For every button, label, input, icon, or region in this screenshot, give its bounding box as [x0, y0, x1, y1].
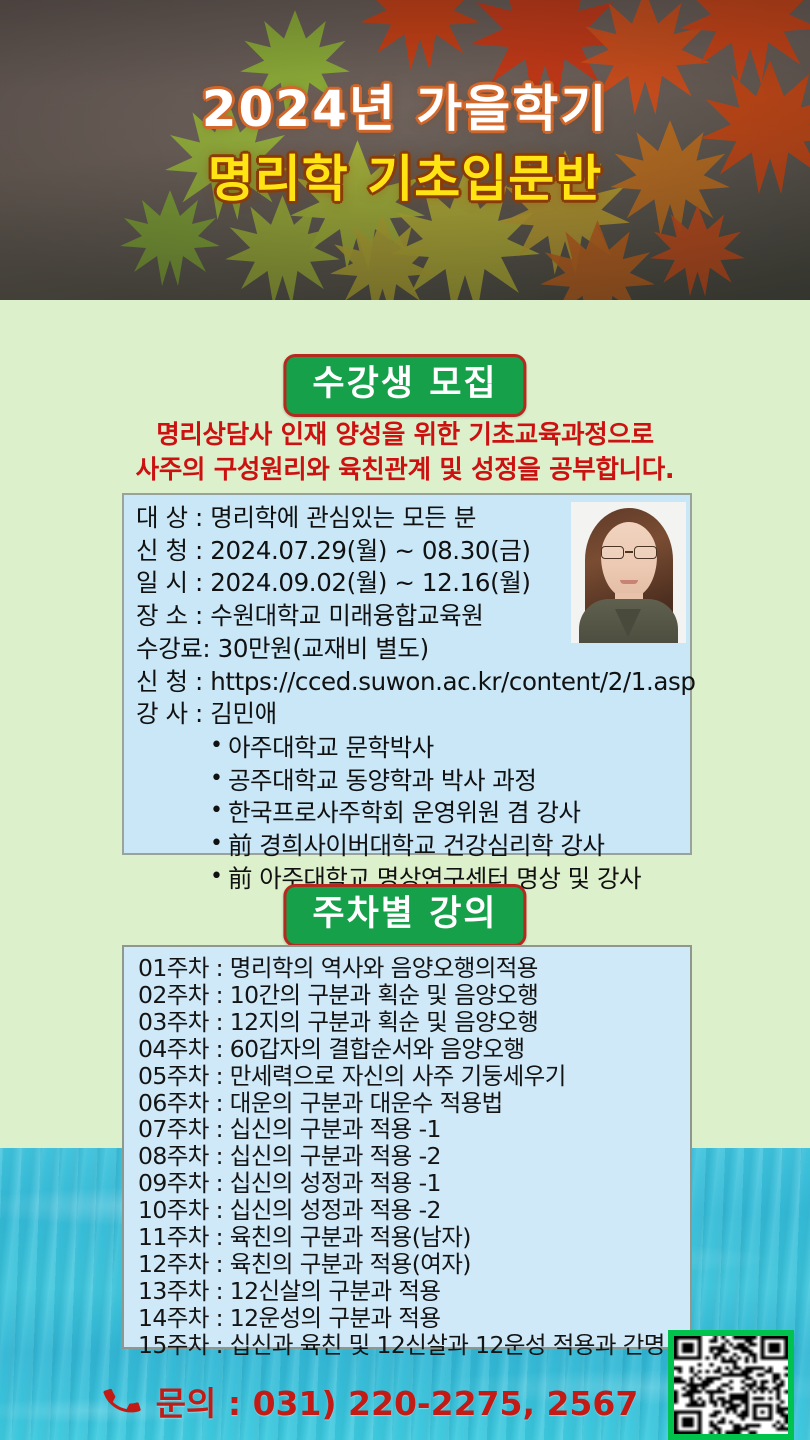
- section-badge-weekly: 주차별 강의: [283, 884, 526, 947]
- weekly-item: 15주차 : 십신과 육친 및 12신살과 12운성 적용과 간명: [138, 1332, 680, 1359]
- course-info-box: 대 상 : 명리학에 관심있는 모든 분 신 청 : 2024.07.29(월)…: [122, 493, 692, 855]
- title-line-2: 명리학 기초입문반: [0, 147, 810, 212]
- title-line-1: 2024년 가을학기: [0, 78, 810, 141]
- weekly-item: 03주차 : 12지의 구분과 획순 및 음양오행: [138, 1009, 680, 1036]
- instructor-photo: [571, 502, 686, 643]
- intro-line-2: 사주의 구성원리와 육친관계 및 성정을 공부합니다.: [0, 453, 810, 488]
- weekly-item: 01주차 : 명리학의 역사와 음양오행의적용: [138, 955, 680, 982]
- list-item: 공주대학교 동양학과 박사 과정: [210, 765, 680, 798]
- poster-title: 2024년 가을학기 명리학 기초입문반: [0, 78, 810, 212]
- list-item: 아주대학교 문학박사: [210, 732, 680, 765]
- list-item: 前 경희사이버대학교 건강심리학 강사: [210, 830, 680, 863]
- weekly-item: 13주차 : 12신살의 구분과 적용: [138, 1278, 680, 1305]
- weekly-item: 11주차 : 육친의 구분과 적용(남자): [138, 1224, 680, 1251]
- poster-root: 2024년 가을학기 명리학 기초입문반 수강생 모집 명리상담사 인재 양성을…: [0, 0, 810, 1440]
- qr-code-frame[interactable]: [668, 1330, 794, 1440]
- section-badge-recruit: 수강생 모집: [283, 354, 526, 417]
- intro-paragraph: 명리상담사 인재 양성을 위한 기초교육과정으로 사주의 구성원리와 육친관계 …: [0, 418, 810, 487]
- glasses-bridge: [625, 551, 633, 553]
- weekly-item: 06주차 : 대운의 구분과 대운수 적용법: [138, 1090, 680, 1117]
- contact-phone-text: 문의 : 031) 220-2275, 2567: [156, 1377, 639, 1425]
- weekly-item: 05주차 : 만세력으로 자신의 사주 기둥세우기: [138, 1063, 680, 1090]
- weekly-item: 14주차 : 12운성의 구분과 적용: [138, 1305, 680, 1332]
- photo-mouth: [620, 580, 638, 584]
- weekly-item: 02주차 : 10간의 구분과 획순 및 음양오행: [138, 982, 680, 1009]
- intro-line-1: 명리상담사 인재 양성을 위한 기초교육과정으로: [0, 418, 810, 453]
- qr-code[interactable]: [674, 1336, 788, 1434]
- list-item: 한국프로사주학회 운영위원 겸 강사: [210, 797, 680, 830]
- info-row: 강 사 : 김민애: [136, 698, 680, 731]
- weekly-item: 12주차 : 육친의 구분과 적용(여자): [138, 1251, 680, 1278]
- contact-footer: 문의 : 031) 220-2275, 2567: [0, 1377, 740, 1425]
- instructor-credential-list: 아주대학교 문학박사 공주대학교 동양학과 박사 과정 한국프로사주학회 운영위…: [136, 732, 680, 896]
- photo-face: [601, 522, 657, 598]
- glasses-left-lens: [601, 546, 624, 559]
- weekly-curriculum-box: 01주차 : 명리학의 역사와 음양오행의적용 02주차 : 10간의 구분과 …: [122, 945, 692, 1349]
- info-row-application-link[interactable]: 신 청 : https://cced.suwon.ac.kr/content/2…: [136, 666, 680, 699]
- telephone-icon: [102, 1381, 142, 1421]
- weekly-item: 09주차 : 십신의 성정과 적용 -1: [138, 1170, 680, 1197]
- header-banner: 2024년 가을학기 명리학 기초입문반: [0, 0, 810, 300]
- weekly-item: 10주차 : 십신의 성정과 적용 -2: [138, 1197, 680, 1224]
- weekly-item: 07주차 : 십신의 구분과 적용 -1: [138, 1116, 680, 1143]
- weekly-item: 08주차 : 십신의 구분과 적용 -2: [138, 1143, 680, 1170]
- glasses-right-lens: [634, 546, 657, 559]
- glasses-icon: [600, 546, 658, 559]
- weekly-item: 04주차 : 60갑자의 결합순서와 음양오행: [138, 1036, 680, 1063]
